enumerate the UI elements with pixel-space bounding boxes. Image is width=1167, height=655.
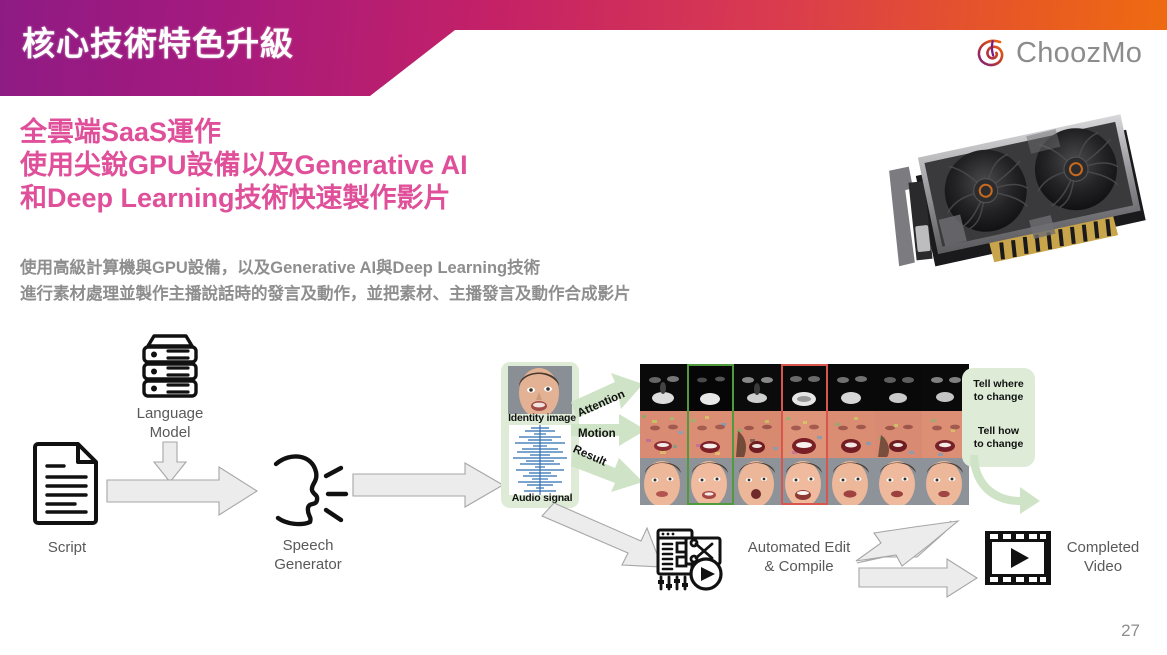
headline-line-1: 全雲端SaaS運作 — [20, 116, 468, 149]
document-icon — [34, 440, 100, 524]
audio-waveform — [509, 425, 571, 495]
automated-edit-label: Automated Edit & Compile — [724, 538, 874, 576]
callout-curved-arrow — [962, 455, 1042, 515]
arrow-right-speech-to-model — [352, 462, 504, 508]
grid-cell-result — [781, 458, 828, 505]
page-number: 27 — [1121, 621, 1140, 641]
grid-cell-attention — [640, 364, 687, 411]
completed-video-label: Completed Video — [1048, 538, 1158, 576]
callout-tell-how: Tell how to change — [962, 425, 1035, 451]
grid-cell-attention — [828, 364, 875, 411]
grid-cell-result — [875, 458, 922, 505]
grid-cell-result — [687, 458, 734, 505]
logo-text: ChoozMo — [1016, 37, 1142, 70]
speaking-head-icon — [268, 450, 348, 532]
grid-cell-attention — [734, 364, 781, 411]
grid-cell-motion — [828, 411, 875, 458]
grid-cell-attention — [687, 364, 734, 411]
grid-cell-motion — [687, 411, 734, 458]
speech-generator-label: Speech Generator — [252, 536, 364, 574]
arrow-diagonal-to-editor — [540, 497, 670, 577]
grid-cell-motion — [734, 411, 781, 458]
identity-face-image — [508, 366, 572, 414]
subtitle-line-2: 進行素材處理並製作主播說話時的發言及動作，並把素材、主播發言及動作合成影片 — [20, 281, 631, 307]
grid-cell-result — [828, 458, 875, 505]
film-strip-play-icon — [983, 529, 1053, 587]
arrow-right-to-video — [858, 558, 978, 598]
face-frame-grid — [640, 364, 969, 505]
callout-tell-where: Tell where to change — [962, 378, 1035, 404]
flow-label-motion: Motion — [578, 428, 616, 440]
headline: 全雲端SaaS運作 使用尖銳GPU設備以及Generative AI 和Deep… — [20, 116, 468, 215]
grid-cell-attention — [781, 364, 828, 411]
gpu-graphics-card-photo — [866, 112, 1158, 272]
grid-cell-motion — [640, 411, 687, 458]
arrow-right-script-to-speech — [106, 466, 258, 516]
grid-cell-attention — [875, 364, 922, 411]
subtitle: 使用高級計算機與GPU設備，以及Generative AI與Deep Learn… — [20, 255, 631, 307]
slide: 核心技術特色升級 ChoozMo 全雲端SaaS運作 使用尖銳GPU設備以及Ge… — [0, 0, 1167, 655]
server-stack-icon — [134, 331, 206, 403]
subtitle-line-1: 使用高級計算機與GPU設備，以及Generative AI與Deep Learn… — [20, 255, 631, 281]
grid-cell-motion — [875, 411, 922, 458]
grid-cell-motion — [781, 411, 828, 458]
page-title: 核心技術特色升級 — [22, 17, 294, 65]
headline-line-2: 使用尖銳GPU設備以及Generative AI — [20, 149, 468, 182]
language-model-label: Language Model — [120, 404, 220, 442]
choozmo-logo: ChoozMo — [975, 36, 1142, 70]
grid-cell-result — [734, 458, 781, 505]
spiral-icon — [975, 36, 1009, 70]
script-label: Script — [27, 538, 107, 557]
video-editor-icon — [655, 526, 723, 592]
headline-line-3: 和Deep Learning技術快速製作影片 — [20, 182, 468, 215]
